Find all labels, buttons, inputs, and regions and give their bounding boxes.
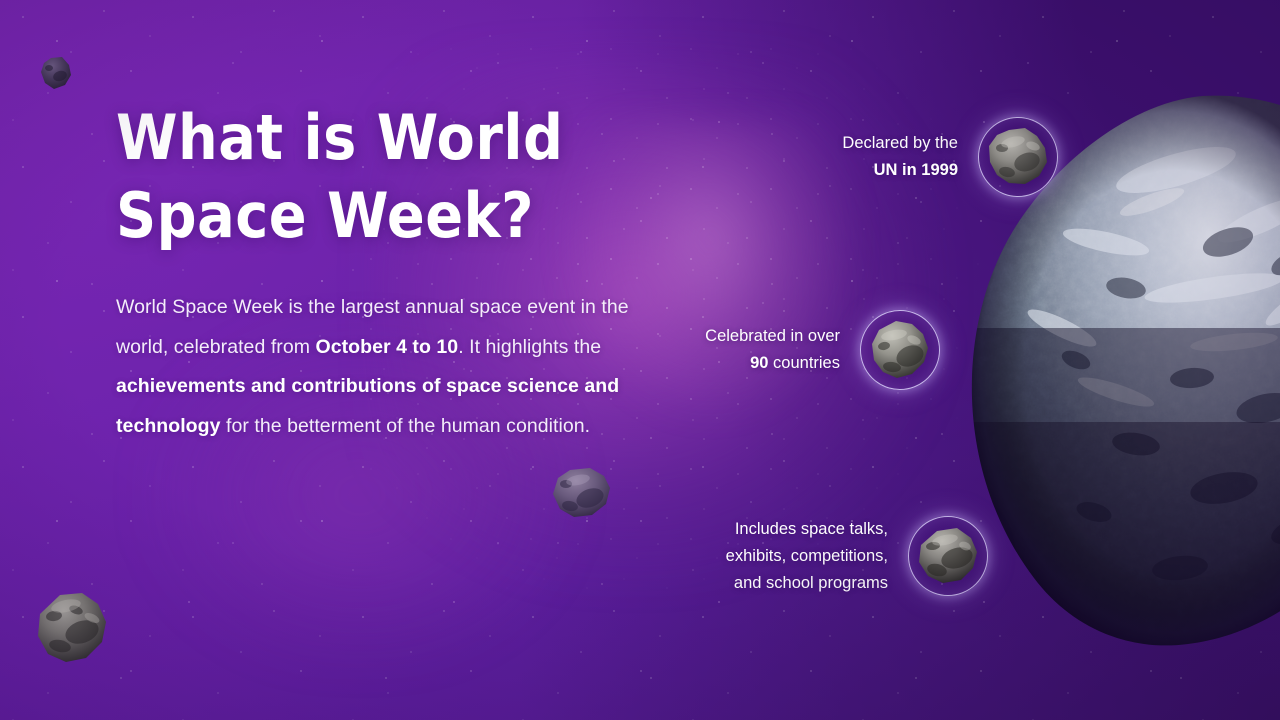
- callout-text: Includes space talks,exhibits, competiti…: [726, 516, 888, 597]
- callout-text: Celebrated in over90 countries: [705, 323, 840, 377]
- asteroid-icon: [987, 128, 1049, 186]
- asteroid-icon: [917, 528, 979, 584]
- callout-medallion: [976, 115, 1060, 199]
- page-title: What is World Space Week?: [116, 99, 736, 255]
- callout-text: Declared by theUN in 1999: [842, 130, 958, 184]
- asteroid-icon: [870, 320, 930, 380]
- callout-activities[interactable]: Includes space talks,exhibits, competiti…: [620, 514, 990, 598]
- callout-countries[interactable]: Celebrated in over90 countries: [572, 308, 942, 392]
- callout-medallion: [906, 514, 990, 598]
- callout-declared-un[interactable]: Declared by theUN in 1999: [690, 115, 1060, 199]
- callout-medallion: [858, 308, 942, 392]
- slide-canvas: What is World Space Week? World Space We…: [0, 0, 1280, 720]
- body-paragraph: World Space Week is the largest annual s…: [116, 288, 646, 446]
